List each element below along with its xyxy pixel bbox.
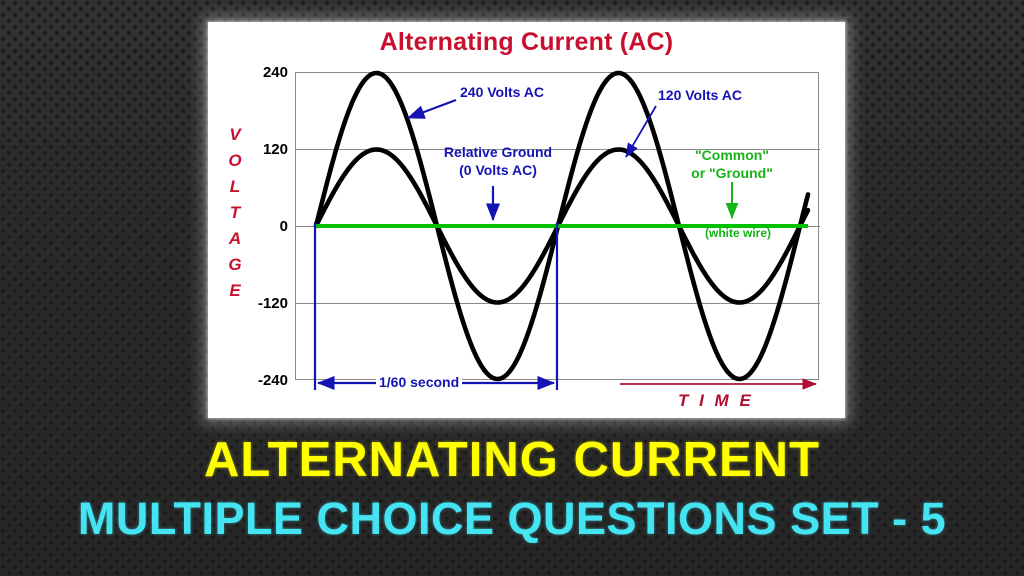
label-or-ground: or "Ground" bbox=[672, 165, 792, 182]
y-tick-120: 120 bbox=[230, 141, 288, 158]
label-relative-ground: Relative Ground bbox=[423, 144, 573, 161]
label-relative-ground-value: (0 Volts AC) bbox=[423, 162, 573, 179]
label-240-volts-ac: 240 Volts AC bbox=[460, 84, 544, 101]
y-axis-label-letter: G bbox=[224, 252, 246, 278]
label-one-sixtieth-second: 1/60 second bbox=[376, 374, 462, 391]
label-white-wire: (white wire) bbox=[688, 225, 788, 242]
slide-title-line1: ALTERNATING CURRENT bbox=[0, 432, 1024, 488]
y-tick-240: 240 bbox=[230, 64, 288, 81]
slide-title-line2: MULTIPLE CHOICE QUESTIONS SET - 5 bbox=[0, 493, 1024, 545]
y-tick-neg240: -240 bbox=[230, 372, 288, 389]
slide-canvas: Alternating Current (AC) V O L T A G E 2… bbox=[0, 0, 1024, 576]
label-common: "Common" bbox=[672, 147, 792, 164]
chart-container: Alternating Current (AC) V O L T A G E 2… bbox=[208, 22, 845, 418]
y-tick-0: 0 bbox=[230, 218, 288, 235]
label-120-volts-ac: 120 Volts AC bbox=[658, 87, 742, 104]
chart-title: Alternating Current (AC) bbox=[208, 28, 845, 57]
label-time-axis: T I M E bbox=[678, 392, 754, 409]
y-axis-label-letter: L bbox=[224, 174, 246, 200]
chart-card: Alternating Current (AC) V O L T A G E 2… bbox=[208, 22, 845, 418]
y-tick-neg120: -120 bbox=[230, 295, 288, 312]
